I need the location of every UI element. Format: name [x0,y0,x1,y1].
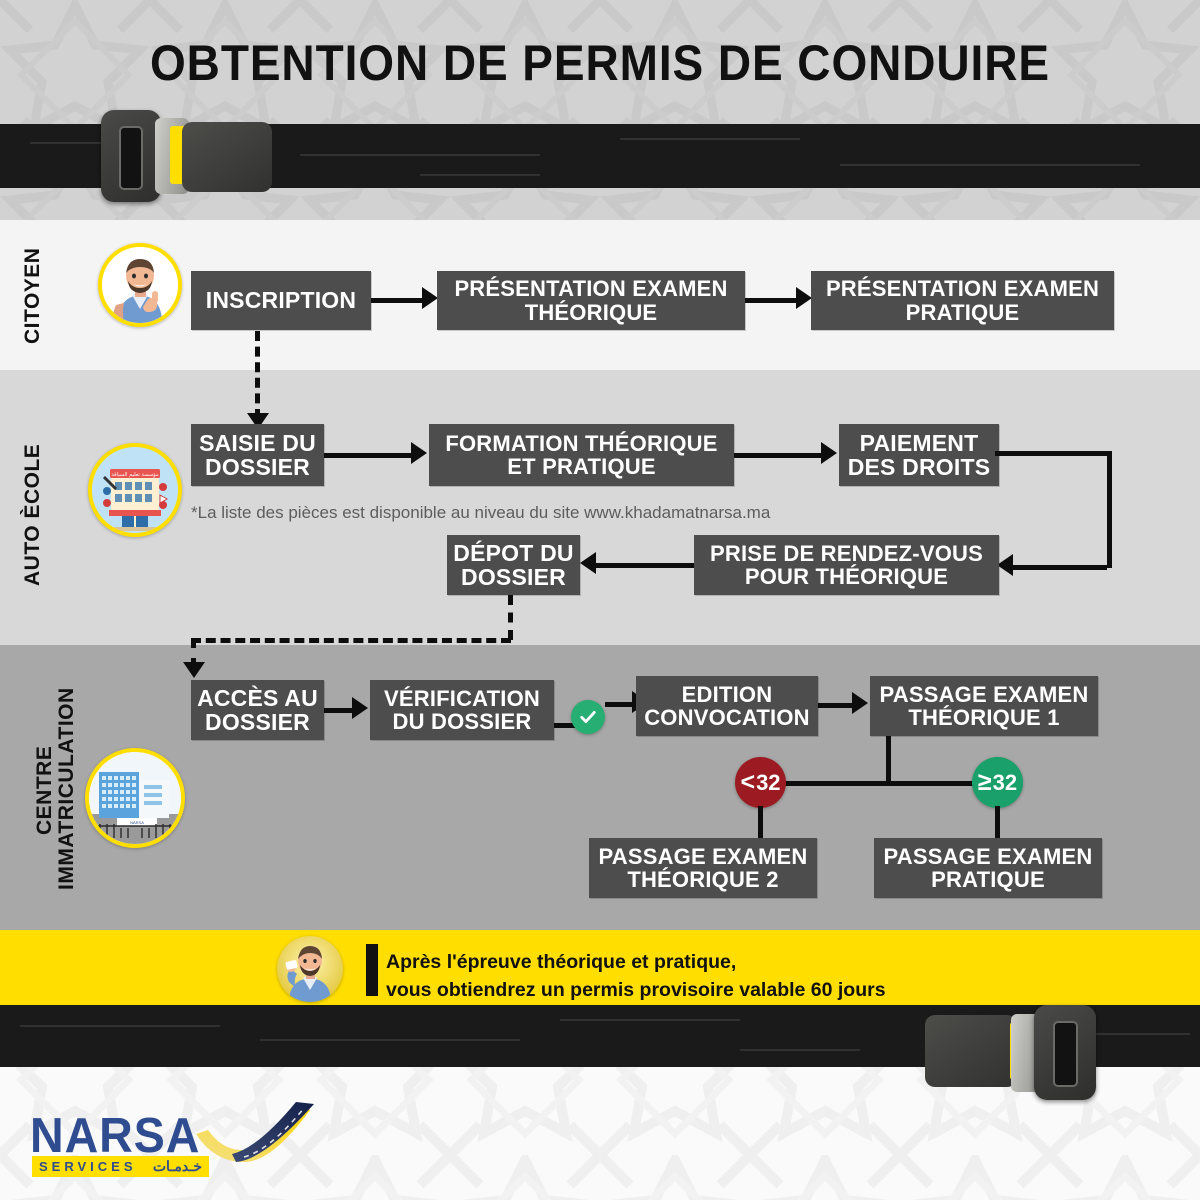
infographic-root: OBTENTION DE PERMIS DE CONDUIRE CITOYEN [0,0,1200,1200]
step-saisie-du-dossier-label: SAISIE DU DOSSIER [193,431,322,479]
step-prise-rendez-vous-label: PRISE DE RENDEZ-VOUS POUR THÉORIQUE [704,542,989,588]
lane-label-centre-immatriculation: CENTRE IMMATRICULATION [34,690,78,890]
seatbelt-buckle-slot-bottom [1053,1021,1078,1087]
pieces-footnote: *La liste des pièces est disponible au n… [191,503,770,523]
step-depot-du-dossier[interactable]: DÉPOT DU DOSSIER [447,535,580,595]
step-inscription[interactable]: INSCRIPTION [191,271,371,330]
step-edition-convocation[interactable]: EDITION CONVOCATION [636,676,818,736]
step-formation-theorique-pratique[interactable]: FORMATION THÉORIQUE ET PRATIQUE [429,424,734,486]
arrow-formation-to-paiement [821,442,837,464]
step-paiement-des-droits-label: PAIEMENT DES DROITS [842,431,997,479]
lane-label-auto-ecole: AUTO ÈCOLE [22,420,44,610]
step-presentation-examen-pratique-label: PRÉSENTATION EXAMEN PRATIQUE [820,277,1105,323]
badge-fail-operator: < [740,770,755,795]
step-presentation-examen-theorique[interactable]: PRÉSENTATION EXAMEN THÉORIQUE [437,271,745,330]
connector-paiement-loop-right [1107,451,1112,568]
step-prise-rendez-vous[interactable]: PRISE DE RENDEZ-VOUS POUR THÉORIQUE [694,535,999,595]
connector-formation-to-paiement [734,453,825,458]
citizen-holding-licence-icon [277,936,343,1002]
narsa-services-badge: SERVICES خـدمـات [32,1156,209,1177]
arrow-theorique-to-pratique [796,287,812,309]
connector-edition-to-theorique1 [818,703,856,708]
page-title: OBTENTION DE PERMIS DE CONDUIRE [48,34,1152,92]
step-passage-examen-theorique-1-label: PASSAGE EXAMEN THÉORIQUE 1 [874,683,1095,729]
step-passage-examen-pratique-label: PASSAGE EXAMEN PRATIQUE [878,845,1099,891]
step-presentation-examen-pratique[interactable]: PRÉSENTATION EXAMEN PRATIQUE [811,271,1114,330]
step-inscription-label: INSCRIPTION [200,288,362,312]
step-formation-theorique-pratique-label: FORMATION THÉORIQUE ET PRATIQUE [439,432,723,478]
connector-inscription-to-presentation [371,298,427,303]
green-check-icon [571,700,605,734]
banner-accent-bar [366,944,378,996]
step-acces-au-dossier[interactable]: ACCÈS AU DOSSIER [191,680,324,740]
driving-school-building-icon: مؤسسة تعليم السياقة [88,443,182,537]
arrow-saisie-to-formation [411,442,427,464]
dashed-depot-down [508,595,513,640]
seatbelt-buckle-slot-top [119,126,143,190]
connector-paiement-loop-bottom [1013,565,1107,570]
narsa-road-swoosh-icon [192,1100,322,1180]
badge-pass-value: 32 [993,770,1017,796]
step-depot-du-dossier-label: DÉPOT DU DOSSIER [447,541,579,589]
connector-branch-horizontal [760,781,1000,786]
connector-acces-to-verification [324,708,355,713]
svg-text:NARSA: NARSA [130,820,144,825]
step-passage-examen-theorique-2[interactable]: PASSAGE EXAMEN THÉORIQUE 2 [589,838,817,898]
step-passage-examen-pratique[interactable]: PASSAGE EXAMEN PRATIQUE [874,838,1102,898]
step-verification-du-dossier[interactable]: VÉRIFICATION DU DOSSIER [370,680,554,740]
arrow-acces-to-verification [352,697,368,719]
narsa-services-label-en: SERVICES [39,1159,137,1174]
registration-center-building-icon: NARSA [85,748,185,848]
connector-saisie-to-formation [324,453,415,458]
step-passage-examen-theorique-1[interactable]: PASSAGE EXAMEN THÉORIQUE 1 [870,676,1098,736]
badge-fail-value: 32 [756,770,780,796]
step-paiement-des-droits[interactable]: PAIEMENT DES DROITS [839,424,999,486]
banner-text: Après l'épreuve théorique et pratique, v… [386,948,886,1005]
arrow-edition-to-theorique1 [852,692,868,714]
seatbelt-buckle-tongue-bottom [925,1015,1017,1087]
step-edition-convocation-label: EDITION CONVOCATION [638,683,816,729]
connector-theorique-to-pratique [745,298,801,303]
dashed-inscription-to-saisie [255,331,260,419]
step-verification-du-dossier-label: VÉRIFICATION DU DOSSIER [378,687,546,733]
dashed-depot-across [191,638,511,643]
step-saisie-du-dossier[interactable]: SAISIE DU DOSSIER [191,424,324,486]
connector-theorique1-down [886,736,891,784]
step-presentation-examen-theorique-label: PRÉSENTATION EXAMEN THÉORIQUE [448,277,733,323]
citizen-avatar-icon [98,243,182,327]
badge-pass-operator: ≥ [978,770,992,795]
connector-rdv-to-depot [596,563,694,568]
badge-score-at-least-32: ≥32 [972,757,1023,808]
arrow-rdv-to-depot [580,552,596,574]
lane-label-citoyen: CITOYEN [22,244,44,348]
arrow-loop-to-prise-rdv [997,554,1013,576]
badge-score-below-32: <32 [735,757,786,808]
arrow-depot-to-acces [183,662,205,678]
svg-text:مؤسسة تعليم السياقة: مؤسسة تعليم السياقة [111,472,158,478]
connector-paiement-loop-top [995,451,1112,456]
step-passage-examen-theorique-2-label: PASSAGE EXAMEN THÉORIQUE 2 [593,845,814,891]
seatbelt-buckle-tongue-top [182,122,272,192]
arrow-inscription-to-presentation [422,287,438,309]
step-acces-au-dossier-label: ACCÈS AU DOSSIER [191,686,324,734]
